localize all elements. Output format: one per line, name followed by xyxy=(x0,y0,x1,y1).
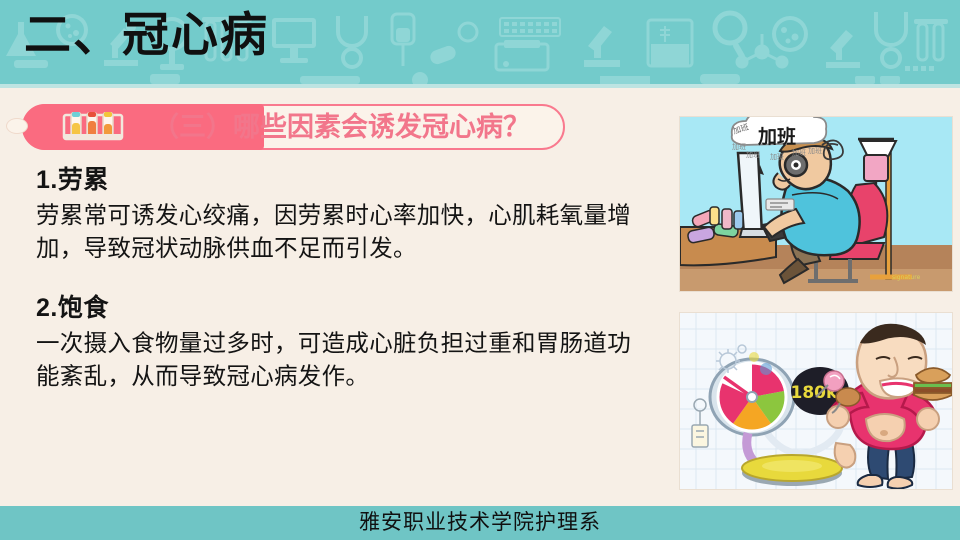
section-1-body: 劳累常可诱发心绞痛，因劳累时心率加快，心肌耗氧量增加，导致冠状动脉供血不足而引发… xyxy=(36,199,646,265)
test-tube-rack-icon xyxy=(62,112,124,142)
svg-text:加班: 加班 xyxy=(808,146,822,155)
slide-canvas: 二、冠心病 （三）哪些因素会诱发冠心病？ 1.劳累 劳累常可诱发心绞痛，因劳累时… xyxy=(0,0,960,540)
svg-text:加班: 加班 xyxy=(732,142,746,151)
svg-text:加班: 加班 xyxy=(757,125,796,148)
header-band: 二、冠心病 xyxy=(0,0,960,84)
section-banner: （三）哪些因素会诱发冠心病？ xyxy=(22,104,565,150)
footer-text: 雅安职业技术学院护理系 xyxy=(0,508,960,538)
overeating-cartoon-image: 180kg xyxy=(679,312,953,490)
section-2-heading: 2.饱食 xyxy=(36,291,646,325)
svg-text:signature: signature xyxy=(892,274,921,281)
svg-text:加班: 加班 xyxy=(792,148,806,157)
header-divider xyxy=(0,84,960,88)
section-2: 2.饱食 一次摄入食物量过多时，可造成心脏负担过重和胃肠道功能紊乱，从而导致冠心… xyxy=(36,291,646,393)
banner-title: （三）哪些因素会诱发冠心病？ xyxy=(152,110,530,144)
content-body: 1.劳累 劳累常可诱发心绞痛，因劳累时心率加快，心肌耗氧量增加，导致冠状动脉供血… xyxy=(36,163,646,417)
section-1-heading: 1.劳累 xyxy=(36,163,646,197)
banner-bullet-dot xyxy=(6,118,28,134)
section-1: 1.劳累 劳累常可诱发心绞痛，因劳累时心率加快，心肌耗氧量增加，导致冠状动脉供血… xyxy=(36,163,646,265)
svg-text:加班: 加班 xyxy=(746,150,760,159)
section-2-body: 一次摄入食物量过多时，可造成心脏负担过重和胃肠道功能紊乱，从而导致冠心病发作。 xyxy=(36,327,646,393)
overwork-cartoon-image: 加班 加班 加班 加班 加班 加班 加班 signature xyxy=(679,116,953,292)
svg-text:加班: 加班 xyxy=(770,152,784,161)
page-title: 二、冠心病 xyxy=(24,4,269,66)
